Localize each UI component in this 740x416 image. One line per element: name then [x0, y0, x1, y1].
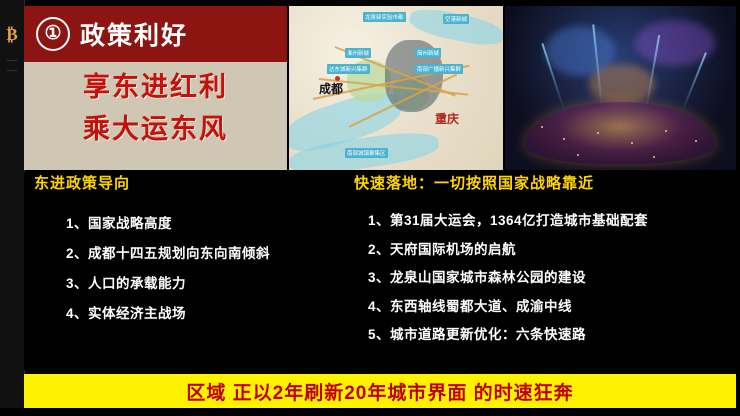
- list-item: 1、第31届大运会，1364亿打造城市基础配套: [354, 207, 734, 236]
- left-column-heading: 东进政策导向: [34, 172, 334, 193]
- map-label-0: 龙泉驿实验市都: [363, 12, 406, 22]
- list-item: 5、城市道路更新优化：六条快速路: [354, 321, 734, 350]
- left-side-strip: ₿: [0, 0, 25, 416]
- footer-text: 区域 正以2年刷新20年城市界面 的时速狂奔: [186, 378, 573, 405]
- list-item: 3、龙泉山国家城市森林公园的建设: [354, 264, 734, 293]
- right-column-heading: 快速落地：一切按照国家战略靠近: [354, 172, 734, 193]
- content-body: 东进政策导向 1、国家战略高度 2、成都十四五规划向东向南倾斜 3、人口的承载能…: [24, 172, 736, 370]
- headline-panel: ① 政策利好 享东进红利 乘大运东风: [24, 6, 287, 170]
- left-column: 东进政策导向 1、国家战略高度 2、成都十四五规划向东向南倾斜 3、人口的承载能…: [34, 172, 334, 329]
- map-label-5: 达东城新兴集群: [327, 64, 370, 74]
- right-column: 快速落地：一切按照国家战略靠近 1、第31届大运会，1364亿打造城市基础配套 …: [354, 172, 734, 350]
- map-label-2: 简州新城: [415, 48, 441, 58]
- list-item: 2、成都十四五规划向东向南倾斜: [34, 239, 334, 269]
- left-column-list: 1、国家战略高度 2、成都十四五规划向东向南倾斜 3、人口的承载能力 4、实体经…: [34, 209, 334, 329]
- stadium-night-photo: [505, 6, 736, 170]
- map-label-6: 南部城镇聚集区: [345, 148, 388, 158]
- headline-number: ①: [36, 17, 70, 51]
- map-panel: 龙泉驿实验市都 空港新城 淮州新城 简州新城 达东城新兴集群 南部广播新兴集群 …: [289, 6, 503, 170]
- list-item: 2、天府国际机场的启航: [354, 236, 734, 265]
- right-column-list: 1、第31届大运会，1364亿打造城市基础配套 2、天府国际机场的启航 3、龙泉…: [354, 207, 734, 350]
- list-item: 1、国家战略高度: [34, 209, 334, 239]
- bitcoin-icon: ₿: [3, 24, 21, 46]
- headline-title-bar: ① 政策利好: [24, 6, 287, 62]
- headline-subtitle: 享东进红利 乘大运东风: [24, 66, 287, 150]
- list-item: 3、人口的承载能力: [34, 269, 334, 299]
- map-label-1: 空港新城: [443, 14, 469, 24]
- slide-root: ₿ ① 政策利好 享东进红利 乘大运东风: [0, 0, 740, 416]
- bottom-bar: [0, 408, 740, 416]
- list-item: 4、实体经济主战场: [34, 299, 334, 329]
- headline-subtitle-line2: 乘大运东风: [24, 108, 287, 150]
- list-item: 4、东西轴线蜀都大道、成渝中线: [354, 293, 734, 322]
- headline-subtitle-line1: 享东进红利: [24, 66, 287, 108]
- top-row: ① 政策利好 享东进红利 乘大运东风 龙泉驿实验市都 空港新城 淮州新城: [24, 6, 736, 170]
- map-label-3: 淮州新城: [345, 48, 371, 58]
- map-city-chongqing: 重庆: [435, 110, 459, 127]
- map-label-4: 南部广播新兴集群: [415, 64, 463, 74]
- footer-banner: 区域 正以2年刷新20年城市界面 的时速狂奔: [24, 374, 736, 408]
- headline-title: 政策利好: [80, 16, 188, 52]
- map-city-chengdu: 成都: [319, 80, 343, 97]
